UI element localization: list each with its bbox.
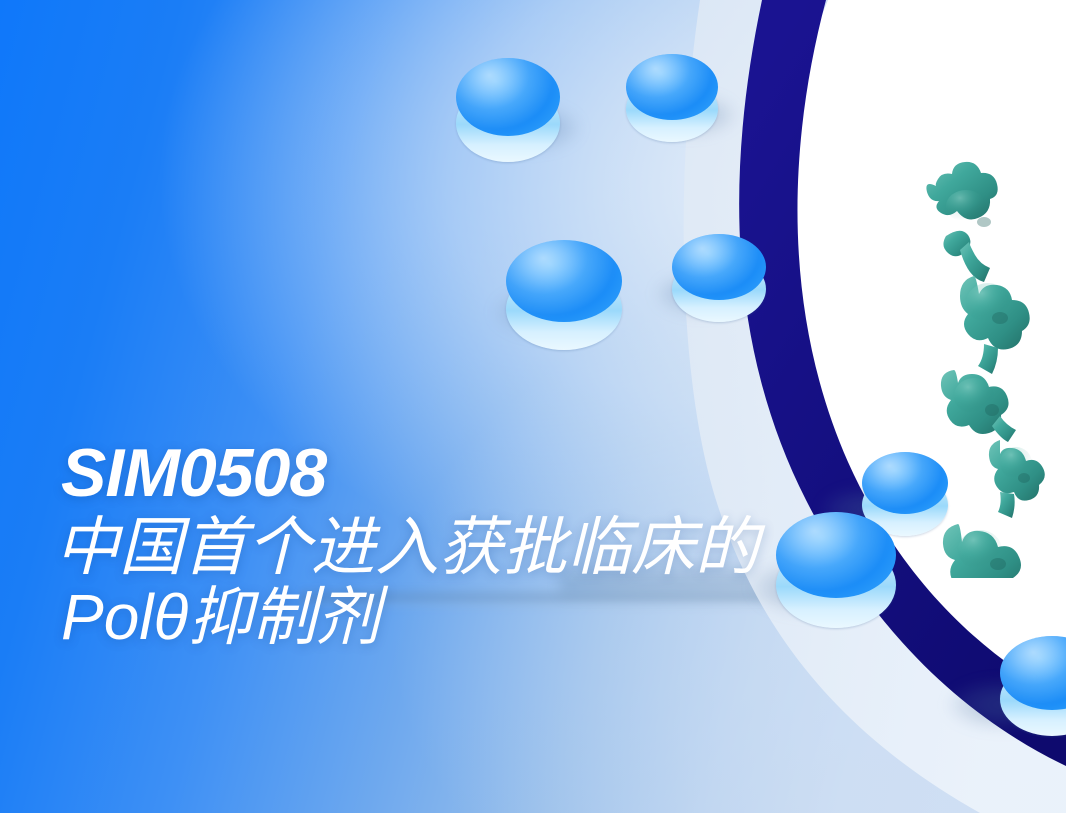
pill-top-right (626, 54, 718, 146)
protein-svg (888, 158, 1066, 578)
poster-canvas: SIM0508 中国首个进入获批临床的 Polθ抑制剂 (0, 0, 1066, 813)
subtitle-line-1: 中国首个进入获批临床的 (55, 512, 875, 582)
protein-molecule (888, 158, 1066, 578)
pill-mid-right (672, 234, 766, 326)
pill-top-left (456, 58, 560, 164)
pill-bottom-right (1000, 636, 1066, 740)
headline-block: SIM0508 中国首个进入获批临床的 Polθ抑制剂 (55, 436, 875, 652)
page-title: SIM0508 (61, 436, 875, 510)
subtitle-line-2: Polθ抑制剂 (61, 582, 875, 652)
pill-mid-left (506, 240, 622, 352)
